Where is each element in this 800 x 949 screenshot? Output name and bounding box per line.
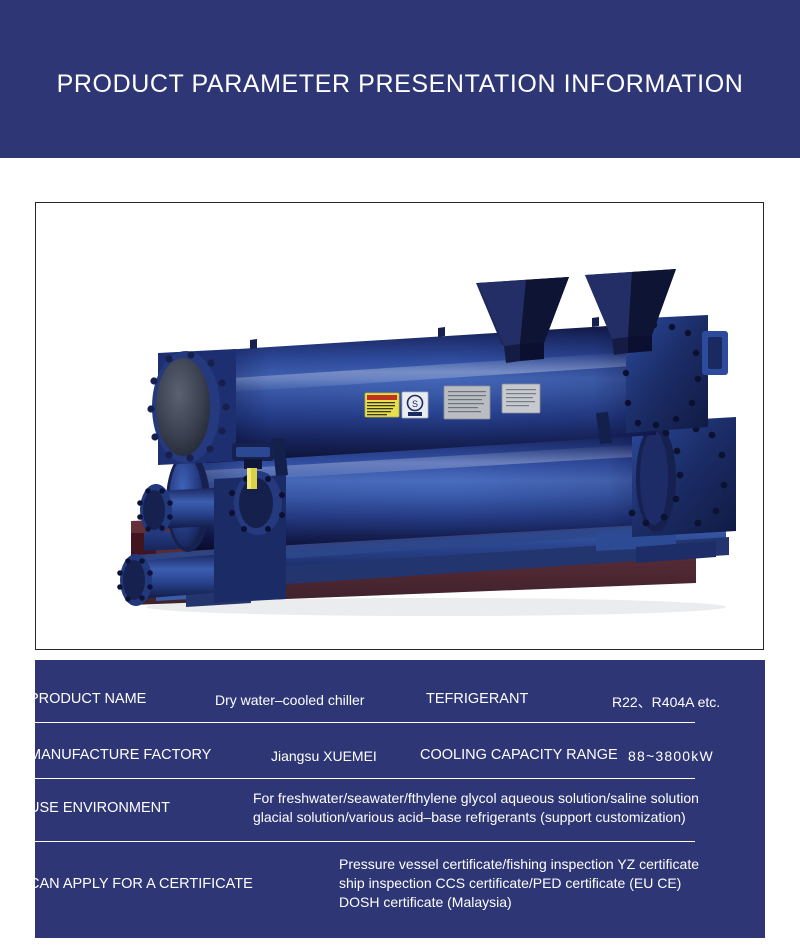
spec-label-cooling-capacity-range: COOLING CAPACITY RANGE bbox=[420, 747, 618, 763]
use-environment-line-1: For freshwater/seawater/fthylene glycol … bbox=[253, 789, 699, 808]
row-divider bbox=[28, 778, 695, 779]
header-banner: PRODUCT PARAMETER PRESENTATION INFORMATI… bbox=[0, 0, 800, 158]
spec-value-cooling-capacity-range: 88~3800kW bbox=[628, 748, 714, 764]
spec-value-certificate: Pressure vessel certificate/fishing insp… bbox=[339, 855, 699, 912]
spec-label-product-name: PRODUCT NAME bbox=[29, 691, 146, 707]
page-title: PRODUCT PARAMETER PRESENTATION INFORMATI… bbox=[0, 70, 800, 99]
spec-value-use-environment: For freshwater/seawater/fthylene glycol … bbox=[253, 789, 699, 827]
certificate-line-1: Pressure vessel certificate/fishing insp… bbox=[339, 855, 699, 874]
certificate-line-2: ship inspection CCS certificate/PED cert… bbox=[339, 874, 699, 893]
spec-label-certificate: CAN APPLY FOR A CERTIFICATE bbox=[29, 876, 253, 892]
spec-value-product-name: Dry water–cooled chiller bbox=[215, 692, 364, 708]
spec-label-refrigerant: TEFRIGERANT bbox=[426, 691, 528, 707]
spec-value-refrigerant: R22、R404A etc. bbox=[612, 692, 720, 712]
certificate-line-3: DOSH certificate (Malaysia) bbox=[339, 893, 699, 912]
product-photo-chiller: S bbox=[36, 203, 763, 649]
spec-value-manufacture-factory: Jiangsu XUEMEI bbox=[271, 748, 377, 764]
svg-text:S: S bbox=[412, 399, 418, 409]
spec-label-use-environment: USE ENVIRONMENT bbox=[29, 800, 170, 816]
row-divider bbox=[28, 841, 695, 842]
product-image-frame: S bbox=[35, 202, 764, 650]
spec-label-manufacture-factory: MANUFACTURE FACTORY bbox=[29, 747, 211, 763]
row-divider bbox=[28, 722, 695, 723]
use-environment-line-2: glacial solution/various acid–base refri… bbox=[253, 808, 699, 827]
